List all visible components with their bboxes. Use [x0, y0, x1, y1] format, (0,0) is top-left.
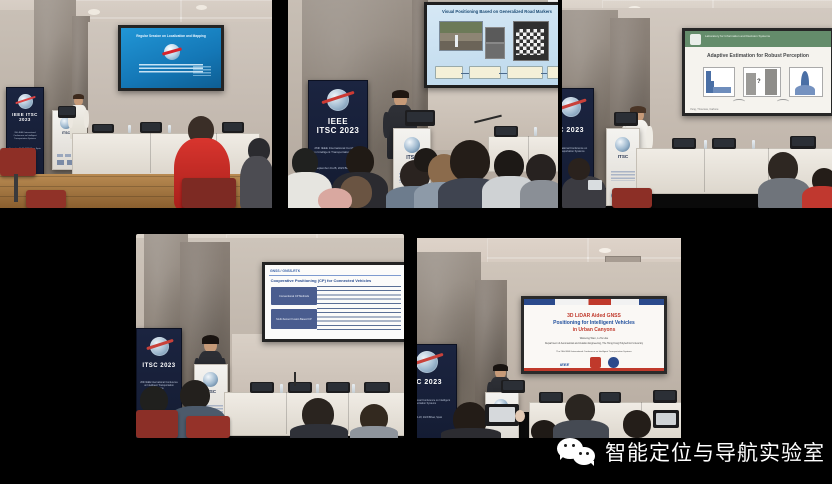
collage-canvas: Regular Session on Localization and Mapp… — [0, 0, 832, 484]
slide-header-text: Laboratory for Information and Decision … — [705, 34, 827, 38]
projection-screen: GNSS / GNSS-RTK Cooperative Positioning … — [262, 262, 404, 342]
projection-screen: 3D LiDAR Aided GNSS Positioning for Inte… — [521, 296, 667, 374]
banner-title: IEEEITSC 2023 — [311, 117, 364, 135]
banner-title: ITSC 2023 — [139, 363, 180, 369]
presentation-desk — [72, 133, 260, 175]
banner-date: September 24-28, 2023 Bilbao, Spain — [417, 417, 452, 419]
photo-bottom-left: GNSS / GNSS-RTK Cooperative Positioning … — [136, 234, 404, 438]
slide-title-line3: in Urban Canyons — [530, 327, 659, 333]
slide-box-1: Conventional CP Methods — [271, 287, 317, 305]
slide-logo-polyu — [590, 357, 601, 368]
conference-banner: ITSC 2023 26th IEEE International Confer… — [417, 344, 457, 438]
projection-screen: Regular Session on Localization and Mapp… — [118, 25, 224, 91]
slide-title: Cooperative Positioning (CP) for Connect… — [271, 278, 400, 283]
slide-authors: Weisong Wen, Li-Ta Hsu — [530, 337, 659, 340]
banner-title: ITSC 2023 — [562, 127, 591, 134]
banner-subtitle: 26th IEEE International Conference on In… — [9, 132, 41, 140]
slide-title-line2: Positioning for Intelligent Vehicles — [530, 320, 659, 326]
slide-conference: The 26th IEEE International Conference o… — [530, 351, 659, 353]
photo-bottom-right: 3D LiDAR Aided GNSS Positioning for Inte… — [417, 234, 681, 438]
photo-top-left: Regular Session on Localization and Mapp… — [0, 0, 272, 208]
slide-header: GNSS / GNSS-RTK — [270, 269, 300, 273]
slide-footnote: Yang, Tzoumas, Carlone — [690, 108, 718, 111]
slide-logo-ieee: IEEE — [560, 362, 569, 367]
projection-screen: Laboratory for Information and Decision … — [682, 28, 832, 116]
watermark: 智能定位与导航实验室 — [557, 437, 825, 467]
slide-logo-itsc — [608, 357, 619, 368]
slide-title: Adaptive Estimation for Robust Perceptio… — [691, 53, 825, 59]
projection-screen: Visual Positioning Based on Generalized … — [424, 2, 558, 88]
slide-title: Visual Positioning Based on Generalized … — [433, 9, 558, 14]
watermark-text: 智能定位与导航实验室 — [605, 437, 825, 467]
photo-top-middle: Visual Positioning Based on Generalized … — [288, 0, 558, 208]
slide-title: Regular Session on Localization and Mapp… — [125, 34, 217, 38]
wechat-icon — [557, 438, 597, 466]
banner-subtitle: 26th IEEE International Conference on In… — [417, 399, 452, 405]
slide-box-2: Multi-Sensor Fusion Based CP — [271, 309, 317, 329]
photo-top-right: Laboratory for Information and Decision … — [562, 0, 832, 208]
banner-title: ITSC 2023 — [417, 379, 453, 386]
slide-title-line1: 3D LiDAR Aided GNSS — [530, 313, 659, 319]
slide-affiliation: Department of Aeronautical and Aviation … — [530, 342, 659, 345]
banner-title: IEEE ITSC 2023 — [8, 112, 41, 122]
